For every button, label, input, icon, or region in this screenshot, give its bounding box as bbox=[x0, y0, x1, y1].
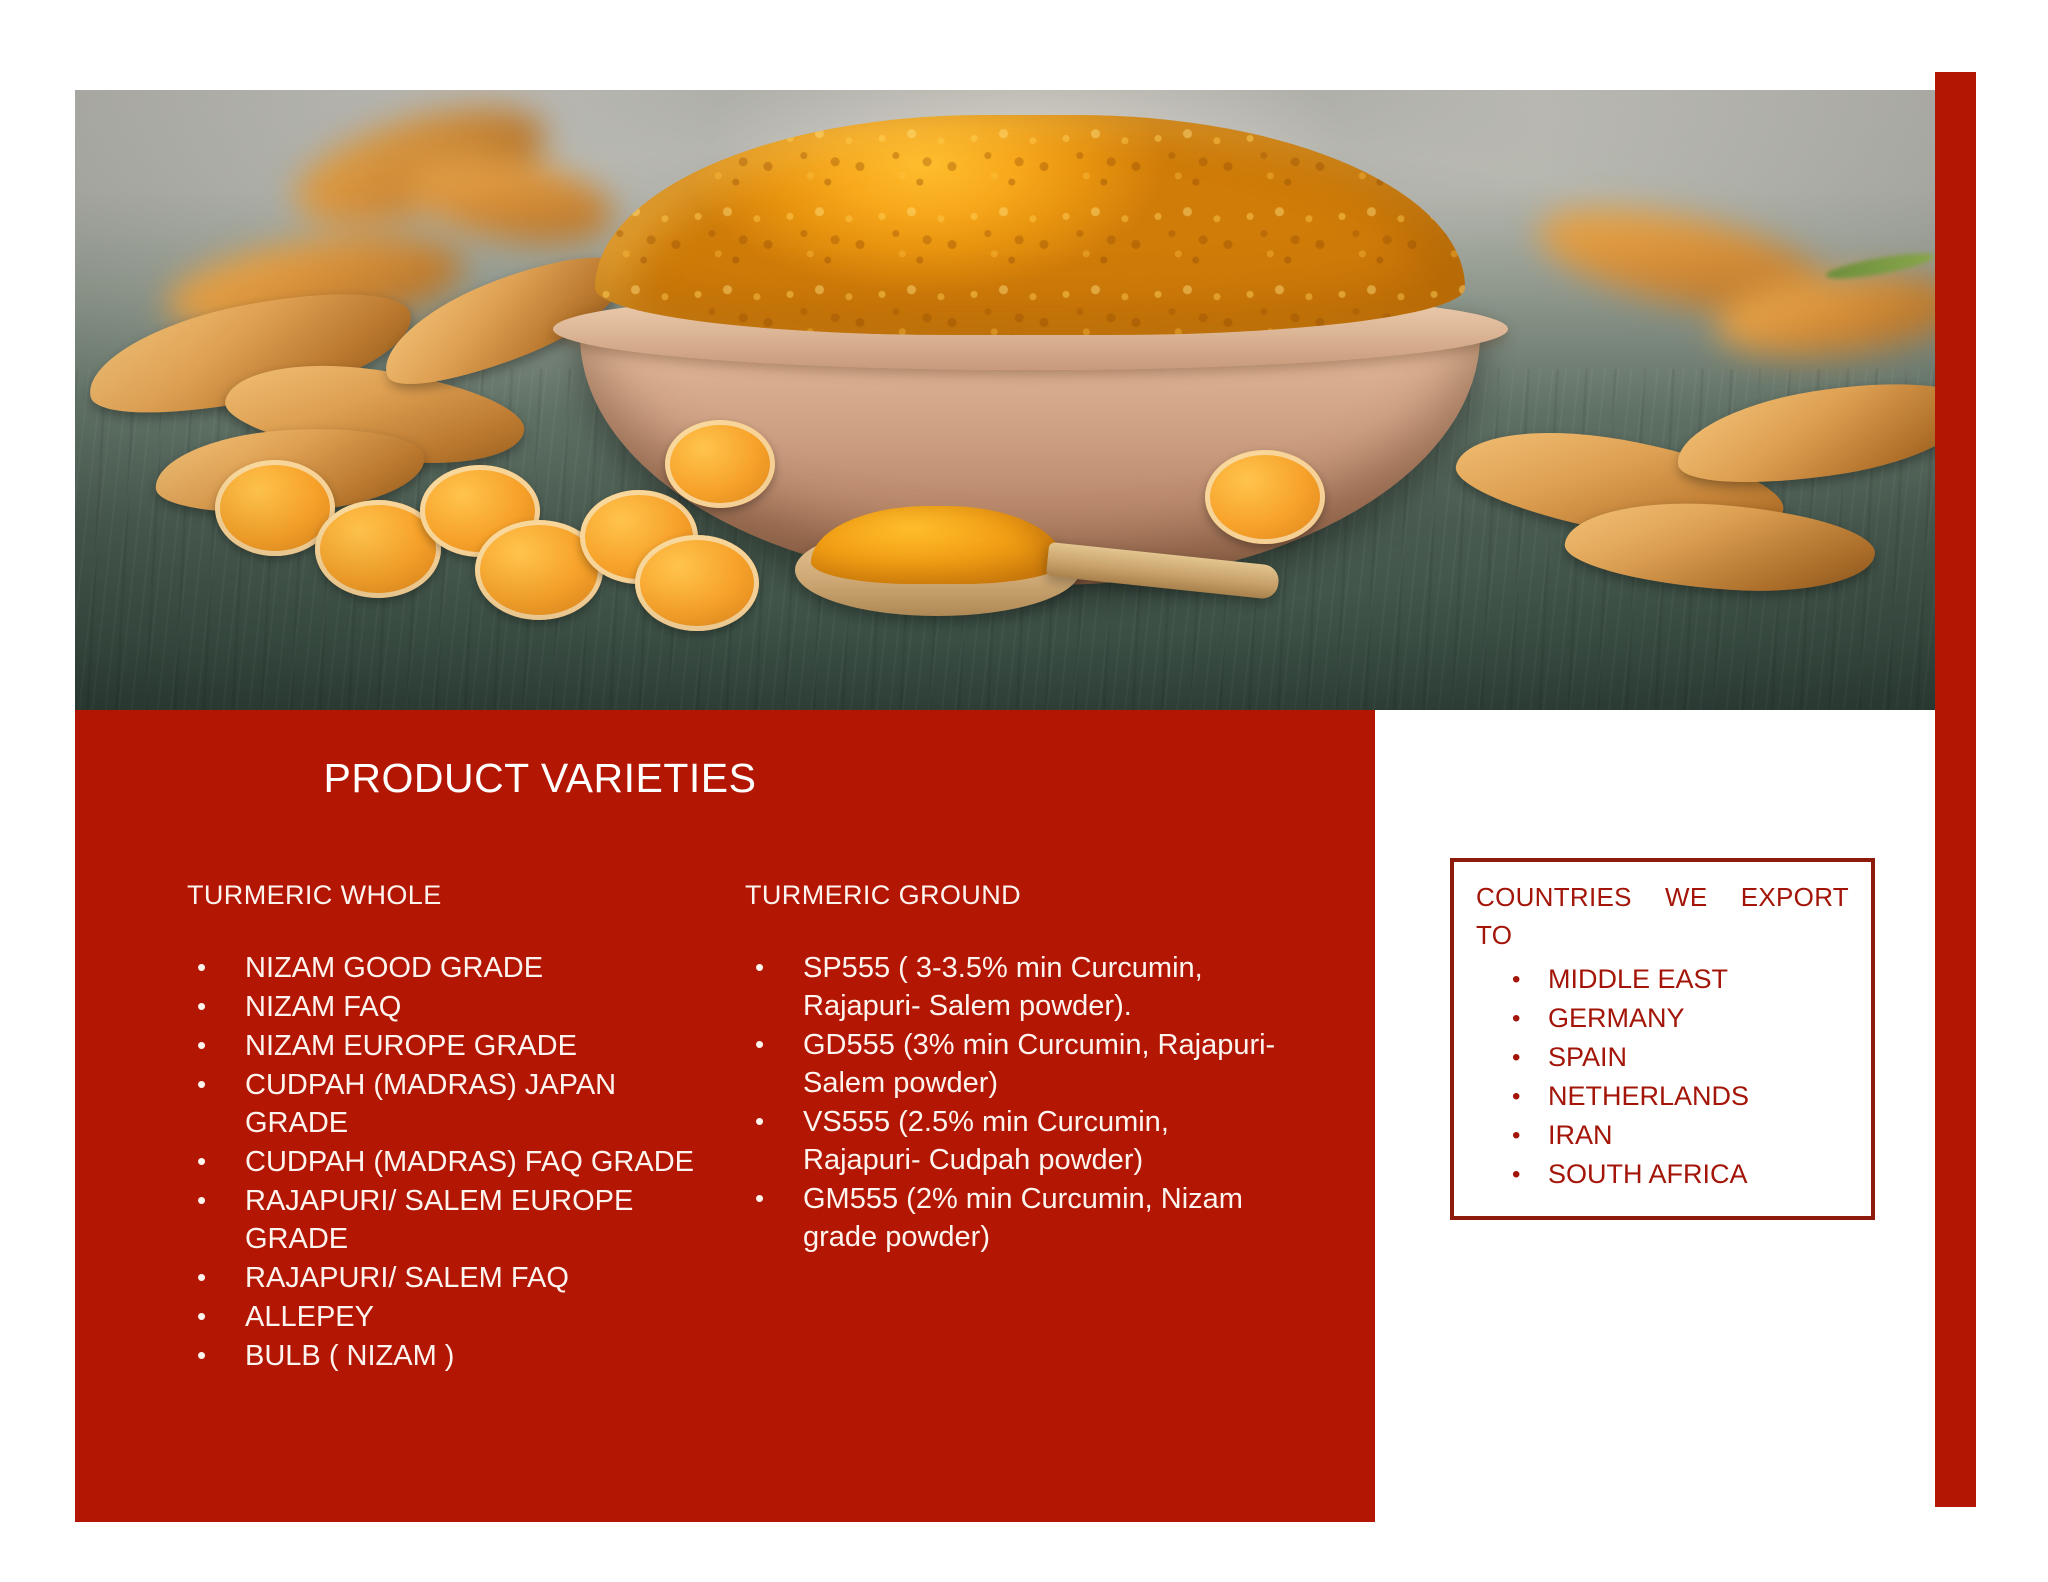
list-item: NETHERLANDS bbox=[1506, 1077, 1871, 1116]
column-turmeric-ground: TURMERIC GROUND SP555 ( 3-3.5% min Curcu… bbox=[725, 880, 1285, 1376]
list-item: NIZAM FAQ bbox=[187, 988, 725, 1026]
list-item: BULB ( NIZAM ) bbox=[187, 1337, 725, 1375]
countries-box-heading: COUNTRIES WE EXPORT TO bbox=[1454, 862, 1871, 954]
list-item: GM555 (2% min Curcumin, Nizam grade powd… bbox=[745, 1180, 1285, 1256]
column-turmeric-whole: TURMERIC WHOLE NIZAM GOOD GRADE NIZAM FA… bbox=[75, 880, 725, 1376]
list-item: SPAIN bbox=[1506, 1038, 1871, 1077]
countries-list: MIDDLE EAST GERMANY SPAIN NETHERLANDS IR… bbox=[1454, 960, 1871, 1194]
list-item: GERMANY bbox=[1506, 999, 1871, 1038]
product-varieties-panel: PRODUCT VARIETIES TURMERIC WHOLE NIZAM G… bbox=[75, 710, 1375, 1522]
turmeric-ground-list: SP555 ( 3-3.5% min Curcumin, Rajapuri- S… bbox=[745, 949, 1285, 1256]
turmeric-whole-list: NIZAM GOOD GRADE NIZAM FAQ NIZAM EUROPE … bbox=[187, 949, 725, 1375]
photo-vignette bbox=[75, 90, 1975, 710]
list-item: MIDDLE EAST bbox=[1506, 960, 1871, 999]
list-item: ALLEPEY bbox=[187, 1298, 725, 1336]
list-item: CUDPAH (MADRAS) FAQ GRADE bbox=[187, 1143, 725, 1181]
countries-heading-line-1: COUNTRIES WE EXPORT bbox=[1476, 878, 1849, 916]
list-item: RAJAPURI/ SALEM EUROPE GRADE bbox=[187, 1182, 725, 1258]
list-item: SOUTH AFRICA bbox=[1506, 1155, 1871, 1194]
varieties-columns: TURMERIC WHOLE NIZAM GOOD GRADE NIZAM FA… bbox=[75, 880, 1375, 1376]
column-heading-turmeric-ground: TURMERIC GROUND bbox=[745, 880, 1285, 911]
hero-image bbox=[75, 90, 1975, 710]
list-item: NIZAM EUROPE GRADE bbox=[187, 1027, 725, 1065]
right-accent-stripe bbox=[1935, 72, 1976, 1507]
list-item: RAJAPURI/ SALEM FAQ bbox=[187, 1259, 725, 1297]
list-item: IRAN bbox=[1506, 1116, 1871, 1155]
countries-we-export-to-box: COUNTRIES WE EXPORT TO MIDDLE EAST GERMA… bbox=[1450, 858, 1875, 1220]
list-item: NIZAM GOOD GRADE bbox=[187, 949, 725, 987]
list-item: GD555 (3% min Curcumin, Rajapuri- Salem … bbox=[745, 1026, 1285, 1102]
list-item: SP555 ( 3-3.5% min Curcumin, Rajapuri- S… bbox=[745, 949, 1285, 1025]
page-title: PRODUCT VARIETIES bbox=[75, 755, 1375, 802]
list-item: VS555 (2.5% min Curcumin, Rajapuri- Cudp… bbox=[745, 1103, 1285, 1179]
list-item: CUDPAH (MADRAS) JAPAN GRADE bbox=[187, 1066, 725, 1142]
column-heading-turmeric-whole: TURMERIC WHOLE bbox=[187, 880, 725, 911]
countries-heading-line-2: TO bbox=[1476, 916, 1849, 954]
